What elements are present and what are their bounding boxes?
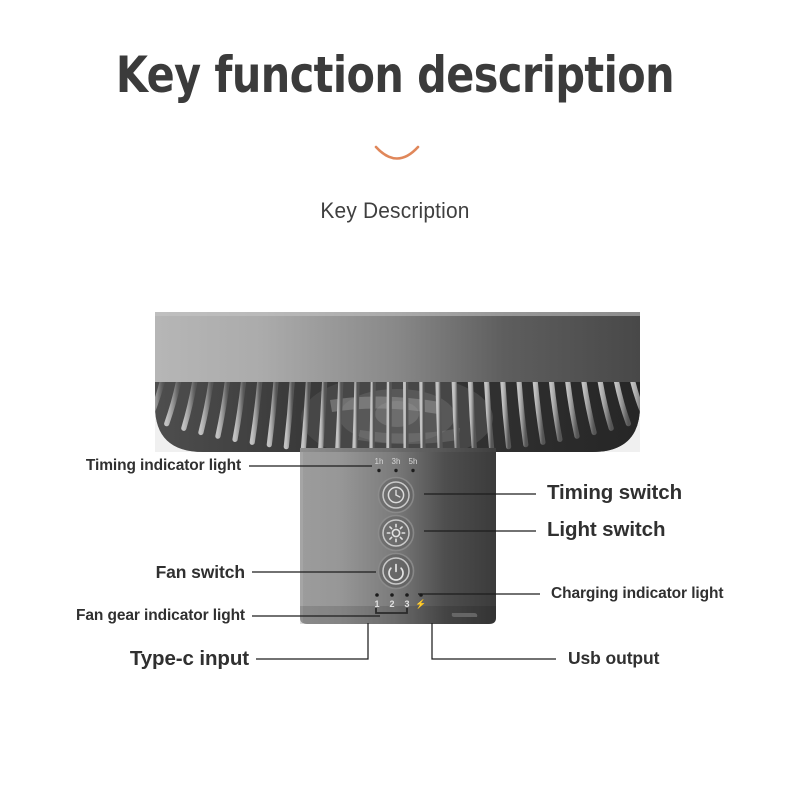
label-fan-switch: Fan switch [156,562,245,583]
fan-gear-indicator-dot [419,593,423,597]
timer-mark-label: 1h [375,457,384,466]
sun-ray [400,527,402,529]
grille-slat [269,378,276,445]
grille-slat [252,378,260,442]
grille-slat [535,378,543,442]
grille-slat [438,378,440,451]
grille-slat [218,378,228,436]
grille-slat [355,378,357,451]
page-subtitle: Key Description [20,198,771,224]
label-type-c-input: Type-c input [130,647,249,671]
page-title: Key function description [32,46,759,104]
grille-slat [583,378,594,433]
grille-slat [422,378,423,452]
fan-switch-button[interactable] [379,554,414,589]
grille-slat [286,378,292,447]
grille-slat [567,378,577,436]
label-usb-output: Usb output [568,648,659,669]
control-panel: 1h3h5h [374,457,426,613]
timing-switch-button[interactable] [379,478,414,513]
grille-slat [321,378,325,450]
timing-indicator-dot [411,469,414,472]
leader-usb-output [432,623,556,659]
clock-icon [388,487,403,502]
grille-slat [303,378,308,448]
grille-slat [470,378,474,450]
sun-ray [400,537,402,539]
timer-mark-label: 5h [409,457,418,466]
fan-neck [300,448,496,458]
power-icon [389,565,403,580]
grille-slat [503,378,509,447]
fan-grille [150,374,646,462]
sun-icon [387,524,404,541]
grille-slat [600,378,612,428]
label-light-switch: Light switch [547,518,665,542]
gear-bracket [376,608,407,613]
leader-type-c-input [256,623,368,659]
fan-gear-indicator-dots [375,593,423,597]
grille-slat [389,378,390,452]
gear-mark-label: 3 [404,599,409,609]
product-illustration: 1h3h5h [0,0,790,807]
timing-indicator-dots [377,469,414,472]
grille-slat [150,378,164,419]
grille-slat [486,378,491,448]
gear-mark-label: 2 [389,599,394,609]
grille-slat [372,378,373,452]
sun-ray [390,537,392,539]
grille-slat [406,378,407,452]
fan-body [300,452,496,624]
grille-slat [454,378,457,451]
label-charging-indicator-light: Charging indicator light [551,585,723,603]
usb-port [452,613,477,617]
sun-ray [390,527,392,529]
label-timing-switch: Timing switch [547,481,682,505]
grille-slat [201,378,212,433]
leader-lines [0,0,790,807]
grille-slat [519,378,526,445]
timer-mark-label: 3h [392,457,401,466]
light-switch-button[interactable] [379,516,414,551]
grille-slat [235,378,244,439]
fan-gear-indicator-dot [375,593,379,597]
timing-indicator-dot [394,469,397,472]
gear-mark-label: 1 [374,599,379,609]
timer-marks: 1h3h5h [375,457,418,466]
grille-slat [167,378,180,424]
infographic-page: Key function description Key Description [0,0,790,807]
fan-head [150,312,646,462]
grille-slat [632,378,646,419]
label-fan-gear-indicator-light: Fan gear indicator light [76,607,245,625]
fan-gear-indicator-dot [405,593,409,597]
grille-slat [184,378,196,428]
gear-marks: 123⚡ [374,598,426,610]
label-timing-indicator-light: Timing indicator light [86,457,241,475]
timing-indicator-dot [377,469,380,472]
gear-mark-label: ⚡ [415,598,426,610]
grille-slat [616,378,629,424]
decorative-arc-icon [374,143,420,167]
grille-slat [338,378,341,451]
fan-gear-indicator-dot [390,593,394,597]
grille-slat [551,378,560,439]
